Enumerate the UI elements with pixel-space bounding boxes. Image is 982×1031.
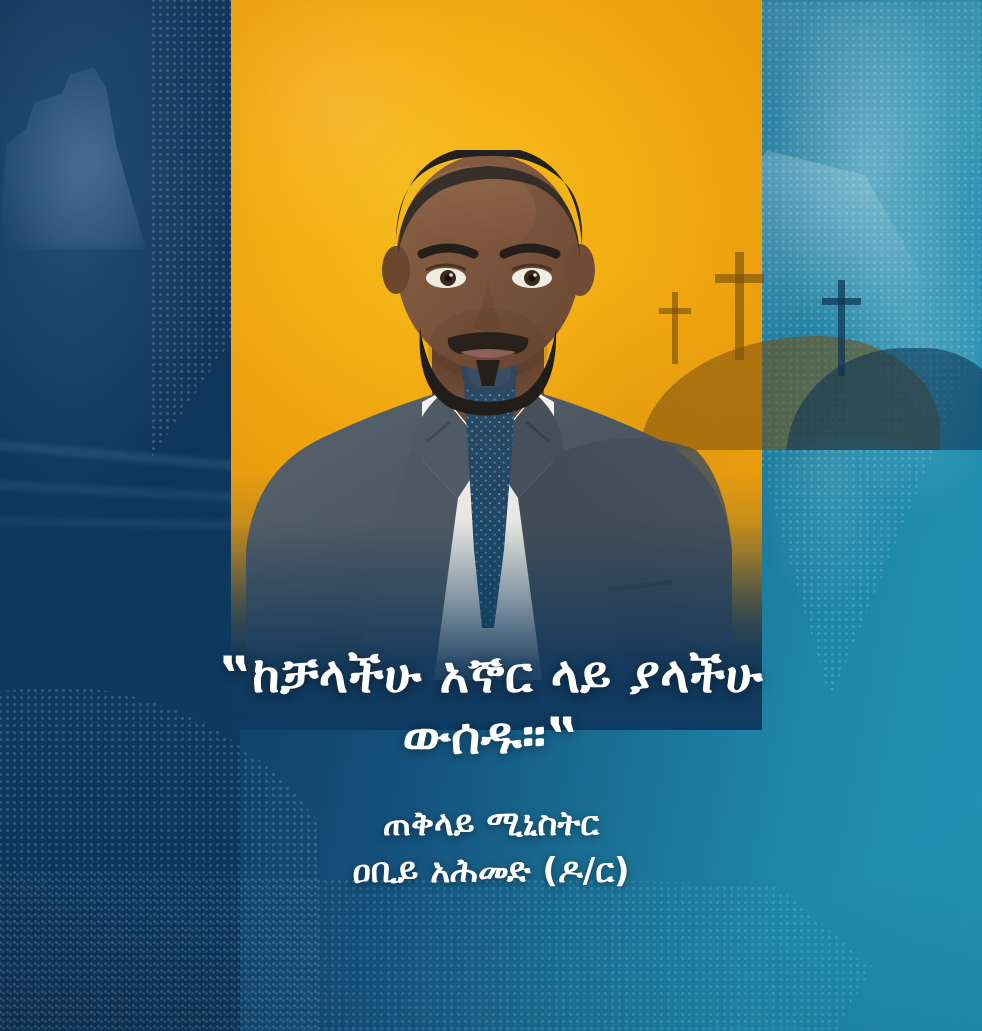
cross-right-icon <box>838 280 845 376</box>
quote-line-2: ውሰዱ።‟ <box>60 706 922 767</box>
quote-poster: ‟ከቻላችሁ አኞር ላይ ያላችሁ ውሰዱ።‟ ጠቅላይ ሚኒስትር ዐቢይ … <box>0 0 982 1031</box>
quote-text: ‟ከቻላችሁ አኞር ላይ ያላችሁ ውሰዱ።‟ <box>60 645 922 767</box>
grass-highlight <box>790 414 982 450</box>
attribution-title: ጠቅላይ ሚኒስትር <box>60 801 922 848</box>
attribution-name: ዐቢይ አሕመድ (ዶ/ር) <box>60 848 922 895</box>
text-block: ‟ከቻላችሁ አኞር ላይ ያላችሁ ውሰዱ።‟ ጠቅላይ ሚኒስትር ዐቢይ … <box>0 645 982 895</box>
quote-line-1: ‟ከቻላችሁ አኞር ላይ ያላችሁ <box>60 645 922 706</box>
attribution-block: ጠቅላይ ሚኒስትር ዐቢይ አሕመድ (ዶ/ር) <box>60 801 922 895</box>
